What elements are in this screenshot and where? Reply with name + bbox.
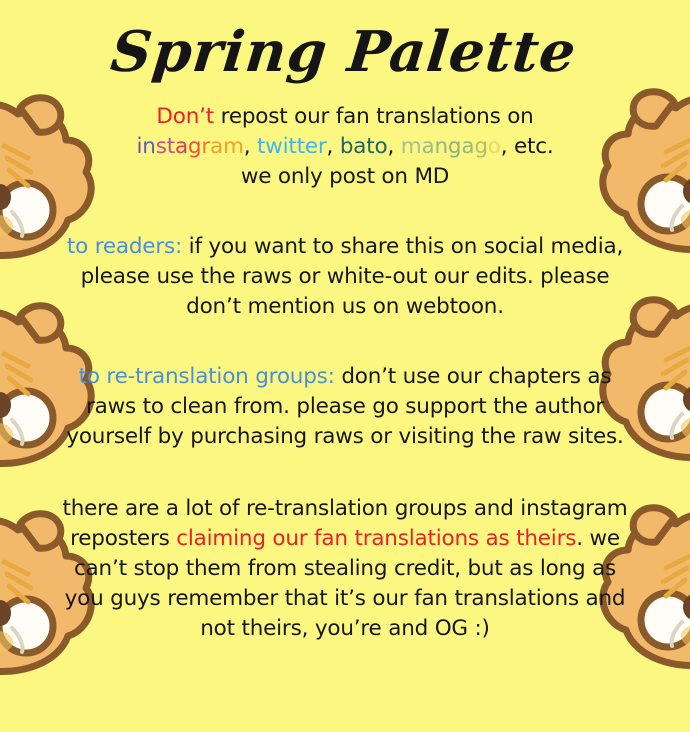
instagram-wordmark: instagram xyxy=(136,134,243,159)
mangago-wordmark: mangago xyxy=(401,134,501,159)
to-readers-heading: to readers: xyxy=(67,234,182,259)
p1-sep2: , xyxy=(327,134,340,159)
page-title: Spring Palette xyxy=(0,0,690,80)
p1-line3: we only post on MD xyxy=(241,164,449,189)
p1-sep4: , etc. xyxy=(501,134,554,159)
p1-sep1: , xyxy=(244,134,257,159)
poster-canvas: Spring Palette Don’t repost our fan tran… xyxy=(0,0,690,732)
to-retranslation-groups-heading: to re-translation groups: xyxy=(79,364,335,389)
p1-after-dont: repost our fan translations on xyxy=(214,104,534,129)
paragraph-to-retranslation-groups: to re-translation groups: don’t use our … xyxy=(0,362,690,452)
paragraph-closing-note: there are a lot of re-translation groups… xyxy=(0,494,690,644)
poster-content: Spring Palette Don’t repost our fan tran… xyxy=(0,0,690,644)
dont-emphasis: Don’t xyxy=(156,104,214,129)
bato-wordmark: bato xyxy=(340,134,388,159)
paragraph-to-readers: to readers: if you want to share this on… xyxy=(0,232,690,322)
twitter-wordmark: twitter xyxy=(257,134,327,159)
p1-sep3: , xyxy=(387,134,400,159)
claiming-highlight: claiming our fan translations as theirs xyxy=(176,526,576,551)
paragraph-do-not-repost: Don’t repost our fan translations on ins… xyxy=(0,102,690,192)
